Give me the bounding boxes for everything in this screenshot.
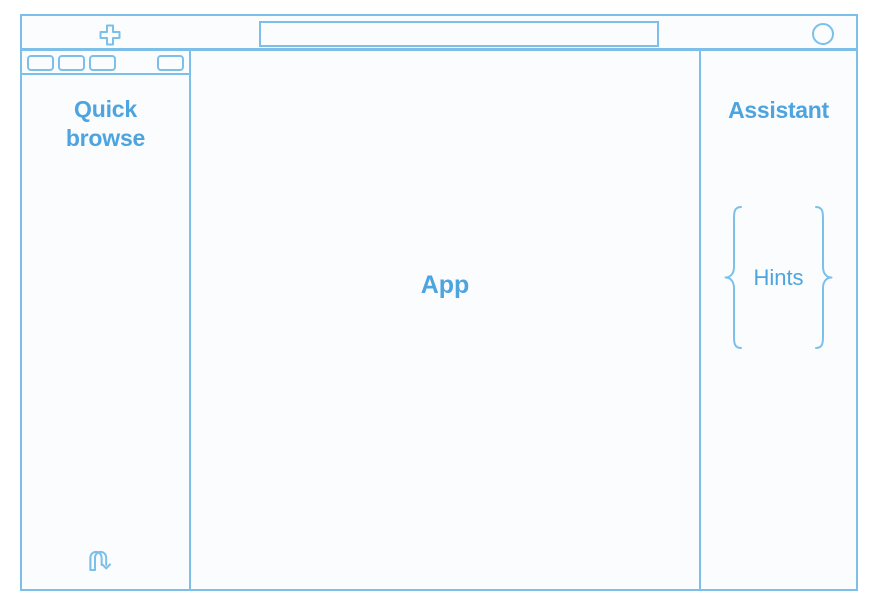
wireframe-window: Quick browse App Assistant — [20, 14, 858, 591]
hints-group: Hints — [707, 205, 850, 350]
main-app-panel: App — [191, 51, 701, 589]
left-curly-brace-icon — [723, 205, 745, 350]
sidebar-quick-browse: Quick browse — [22, 51, 191, 589]
search-input[interactable] — [259, 21, 659, 47]
top-bar — [20, 14, 858, 50]
sidebar-title-line-2: browse — [22, 124, 189, 153]
sidebar-title-line-1: Quick — [22, 95, 189, 124]
sidebar-tool-chip-2[interactable] — [58, 55, 85, 71]
sidebar-tool-chip-4[interactable] — [157, 55, 184, 71]
main-panel-title: App — [421, 271, 470, 300]
assistant-panel: Assistant Hints — [701, 51, 856, 589]
content-area: Quick browse App Assistant — [20, 49, 858, 591]
hints-label: Hints — [745, 265, 811, 291]
sidebar-tool-chip-3[interactable] — [89, 55, 116, 71]
right-curly-brace-icon — [812, 205, 834, 350]
plus-icon[interactable] — [98, 23, 122, 47]
sidebar-tool-chip-1[interactable] — [27, 55, 54, 71]
avatar-circle-icon[interactable] — [812, 23, 834, 45]
sidebar-title: Quick browse — [22, 95, 189, 154]
assistant-title: Assistant — [701, 97, 856, 124]
sidebar-toolbar — [22, 51, 189, 75]
u-turn-arrow-icon[interactable] — [88, 545, 118, 575]
